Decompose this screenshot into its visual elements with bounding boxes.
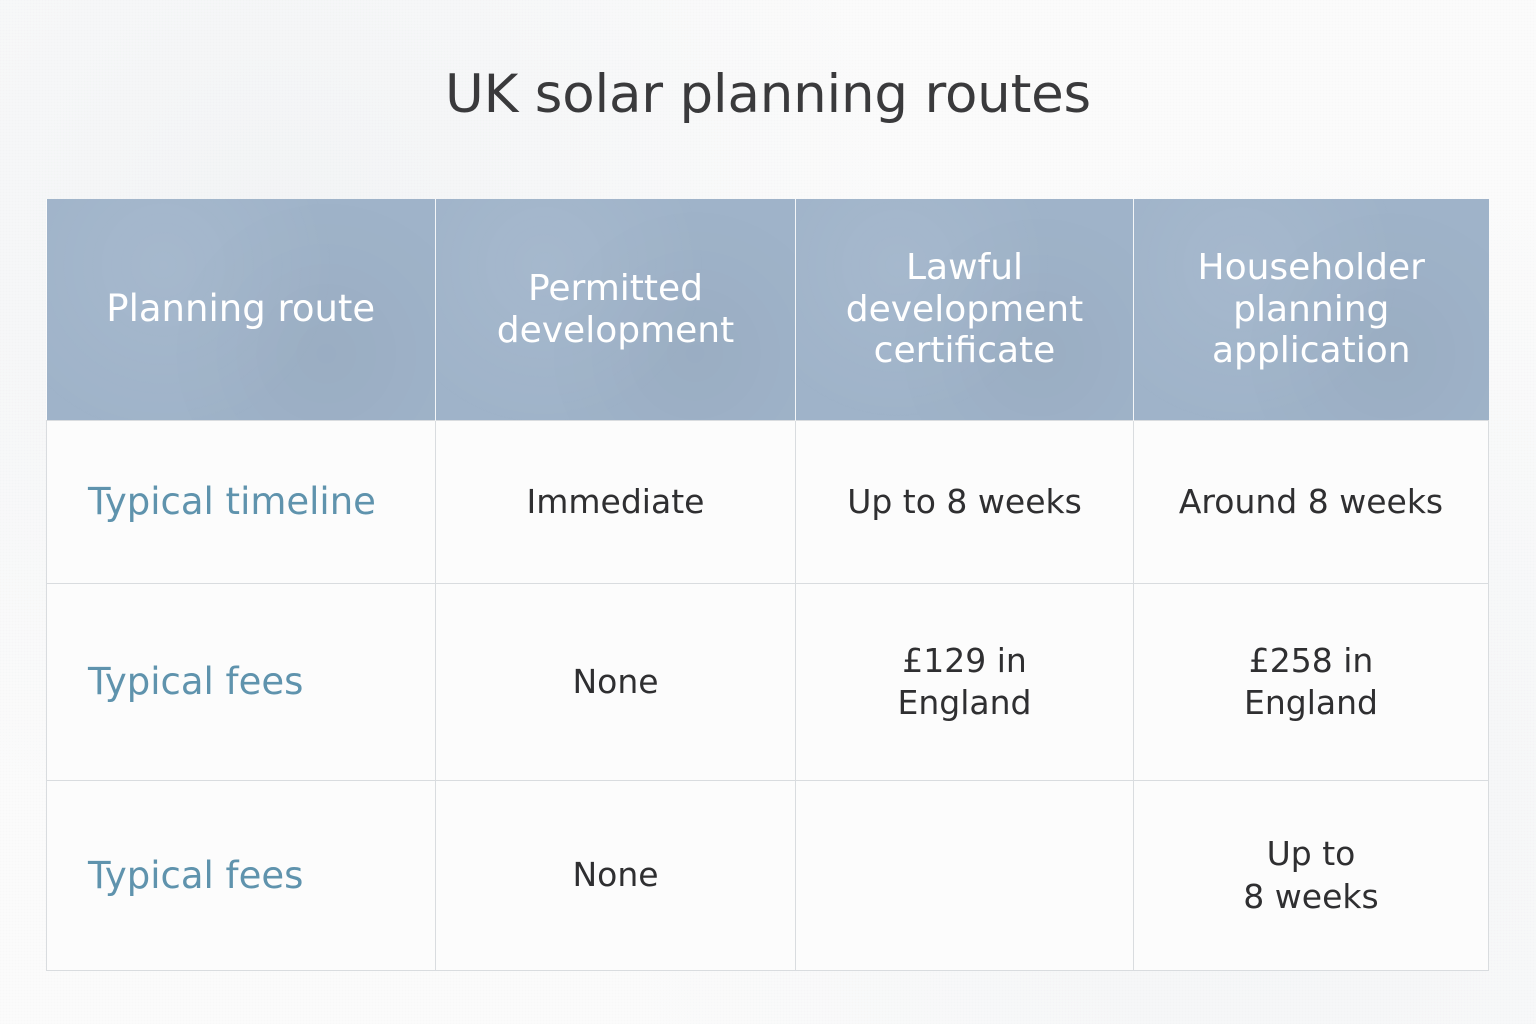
column-header-lawful-development-certificate-line1: Lawful	[810, 247, 1119, 289]
table-body: Typical timeline Immediate Up to 8 weeks…	[47, 421, 1489, 971]
row-label-typical-fees-1: Typical fees	[47, 584, 436, 781]
table-row: Typical timeline Immediate Up to 8 weeks…	[47, 421, 1489, 584]
planning-routes-table-container: Planning route Permitted development Law…	[46, 199, 1488, 967]
cell-fees-lawful-line1: £129 in	[814, 640, 1115, 682]
column-header-lawful-development-certificate-line3: certificate	[810, 330, 1119, 372]
cell-timeline-lawful-development-certificate: Up to 8 weeks	[796, 421, 1134, 584]
column-header-planning-route-text: Planning route	[61, 288, 422, 331]
cell-fees-householder-line1: £258 in	[1152, 640, 1470, 682]
row-label-typical-timeline: Typical timeline	[47, 421, 436, 584]
cell-fees-householder-line2: England	[1152, 682, 1470, 724]
table-row: Typical fees None Up to 8 weeks	[47, 781, 1489, 971]
table-header-row: Planning route Permitted development Law…	[47, 199, 1489, 421]
column-header-householder-planning-application-line2: planning	[1148, 289, 1475, 331]
column-header-householder-planning-application: Householder planning application	[1134, 199, 1489, 421]
column-header-householder-planning-application-line1: Householder	[1148, 247, 1475, 289]
column-header-householder-planning-application-line3: application	[1148, 330, 1475, 372]
cell-fees2-householder-line1: Up to	[1152, 833, 1470, 875]
column-header-lawful-development-certificate: Lawful development certificate	[796, 199, 1134, 421]
column-header-planning-route: Planning route	[47, 199, 436, 421]
row-label-typical-fees-2: Typical fees	[47, 781, 436, 971]
cell-fees2-permitted-development: None	[436, 781, 796, 971]
cell-fees2-householder-planning-application: Up to 8 weeks	[1134, 781, 1489, 971]
column-header-lawful-development-certificate-line2: development	[810, 289, 1119, 331]
cell-fees-lawful-line2: England	[814, 682, 1115, 724]
page-canvas: UK solar planning routes Planning route …	[0, 0, 1536, 1024]
page-title: UK solar planning routes	[0, 66, 1536, 124]
cell-fees2-householder-line2: 8 weeks	[1152, 876, 1470, 918]
cell-fees-permitted-development: None	[436, 584, 796, 781]
cell-fees2-lawful-development-certificate	[796, 781, 1134, 971]
column-header-permitted-development-line1: Permitted	[450, 268, 781, 310]
table-row: Typical fees None £129 in England £258 i…	[47, 584, 1489, 781]
cell-timeline-permitted-development: Immediate	[436, 421, 796, 584]
column-header-permitted-development-line2: development	[450, 310, 781, 352]
column-header-permitted-development: Permitted development	[436, 199, 796, 421]
cell-fees-lawful-development-certificate: £129 in England	[796, 584, 1134, 781]
table-header: Planning route Permitted development Law…	[47, 199, 1489, 421]
cell-timeline-householder-planning-application: Around 8 weeks	[1134, 421, 1489, 584]
planning-routes-table: Planning route Permitted development Law…	[46, 199, 1489, 971]
cell-fees-householder-planning-application: £258 in England	[1134, 584, 1489, 781]
